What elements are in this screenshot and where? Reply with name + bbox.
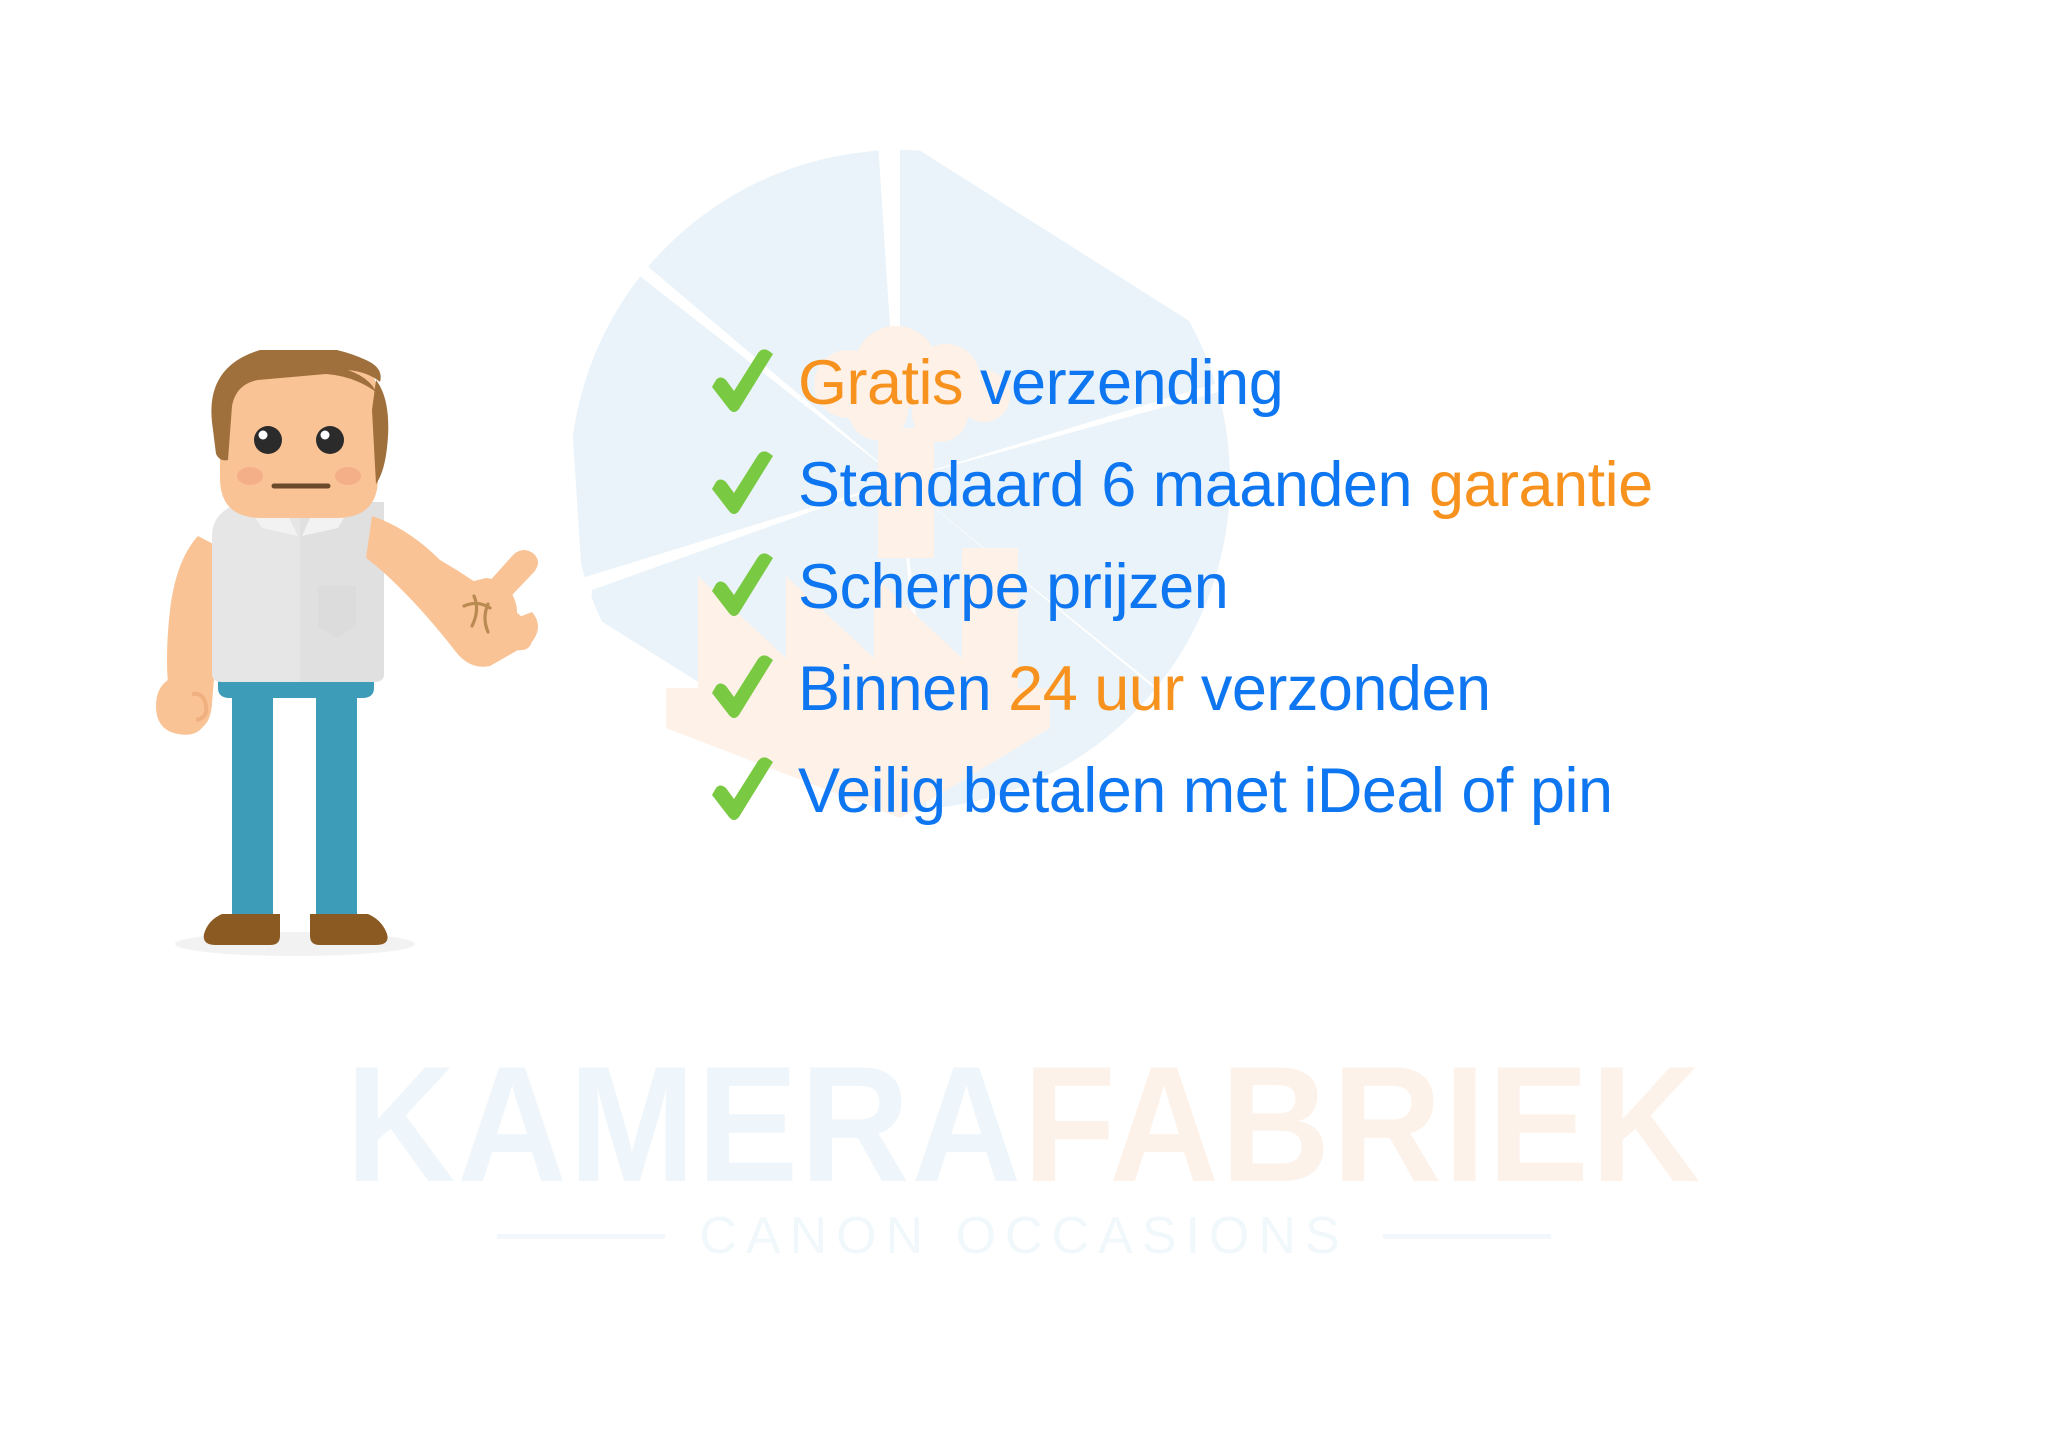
list-item: Standaard 6 maanden garantie (706, 434, 2006, 536)
feature-text-body: Standaard 6 maanden (798, 450, 1429, 520)
feature-text: Gratis verzending (798, 352, 1283, 415)
feature-text-highlight: garantie (1429, 450, 1653, 520)
brand-watermark-first: KAMERA (346, 1032, 1023, 1216)
tagline-rule-left (497, 1234, 665, 1239)
feature-text: Standaard 6 maanden garantie (798, 454, 1653, 517)
feature-text: Binnen 24 uur verzonden (798, 658, 1491, 721)
brand-tagline-row: CANON OCCASIONS (0, 1210, 2048, 1262)
green-check-icon (706, 755, 798, 827)
feature-text-body: Veilig betalen met iDeal of pin (798, 756, 1613, 826)
feature-text: Scherpe prijzen (798, 556, 1228, 619)
list-item: Binnen 24 uur verzonden (706, 638, 2006, 740)
feature-text: Veilig betalen met iDeal of pin (798, 760, 1613, 823)
pointing-man-character (140, 350, 640, 970)
feature-text-highlight: Gratis (798, 348, 980, 418)
green-check-icon (706, 347, 798, 419)
promo-banner: Gratis verzending Standaard 6 maanden ga… (0, 0, 2048, 1444)
feature-text-body: Scherpe prijzen (798, 552, 1228, 622)
feature-text-body-2: verzonden (1201, 654, 1491, 724)
feature-text-highlight: 24 uur (1008, 654, 1201, 724)
feature-text-body: Binnen (798, 654, 1008, 724)
list-item: Veilig betalen met iDeal of pin (706, 740, 2006, 842)
list-item: Scherpe prijzen (706, 536, 2006, 638)
brand-watermark: KAMERAFABRIEK (82, 1042, 1966, 1207)
feature-text-body: verzending (980, 348, 1283, 418)
list-item: Gratis verzending (706, 332, 2006, 434)
green-check-icon (706, 653, 798, 725)
brand-watermark-second: FABRIEK (1023, 1032, 1702, 1216)
tagline-rule-right (1383, 1234, 1551, 1239)
green-check-icon (706, 551, 798, 623)
feature-list: Gratis verzending Standaard 6 maanden ga… (706, 332, 2006, 842)
green-check-icon (706, 449, 798, 521)
brand-tagline: CANON OCCASIONS (699, 1210, 1348, 1262)
